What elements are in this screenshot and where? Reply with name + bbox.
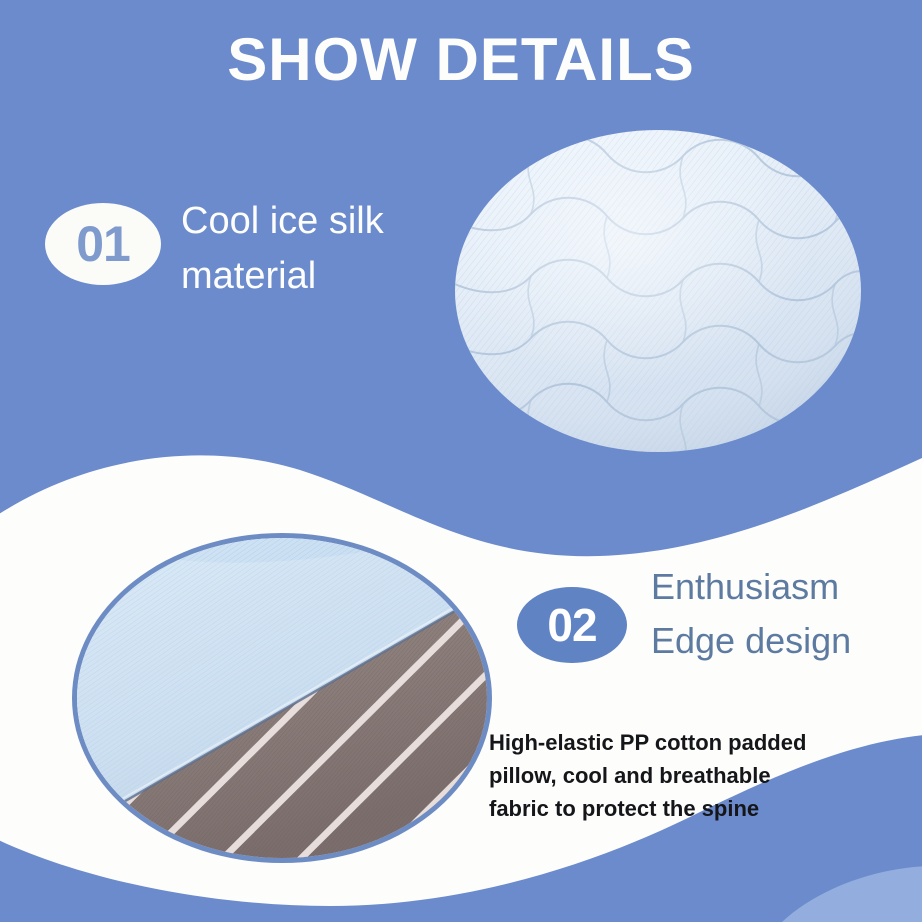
feature-heading-02-line2: Edge design xyxy=(651,614,922,668)
quilted-ice-silk-fabric-photo xyxy=(455,130,861,452)
two-tone-edge-fabric-photo xyxy=(72,533,492,863)
feature-badge-02: 02 xyxy=(517,587,627,663)
feature-badge-01: 01 xyxy=(45,203,161,285)
feature-body-02-line1: High-elastic PP cotton padded xyxy=(489,726,889,759)
feature-heading-02-line1: Enthusiasm xyxy=(651,560,922,614)
page-title: SHOW DETAILS xyxy=(0,30,922,90)
feature-heading-02: Enthusiasm Edge design xyxy=(651,560,922,668)
feature-heading-01-line1: Cool ice silk xyxy=(181,194,511,249)
product-detail-image: SHOW DETAILS 01 Cool ice silk material xyxy=(0,0,922,922)
feature-body-02-line2: pillow, cool and breathable xyxy=(489,759,889,792)
feature-body-02-line3: fabric to protect the spine xyxy=(489,792,889,825)
feature-body-02: High-elastic PP cotton padded pillow, co… xyxy=(489,726,889,825)
